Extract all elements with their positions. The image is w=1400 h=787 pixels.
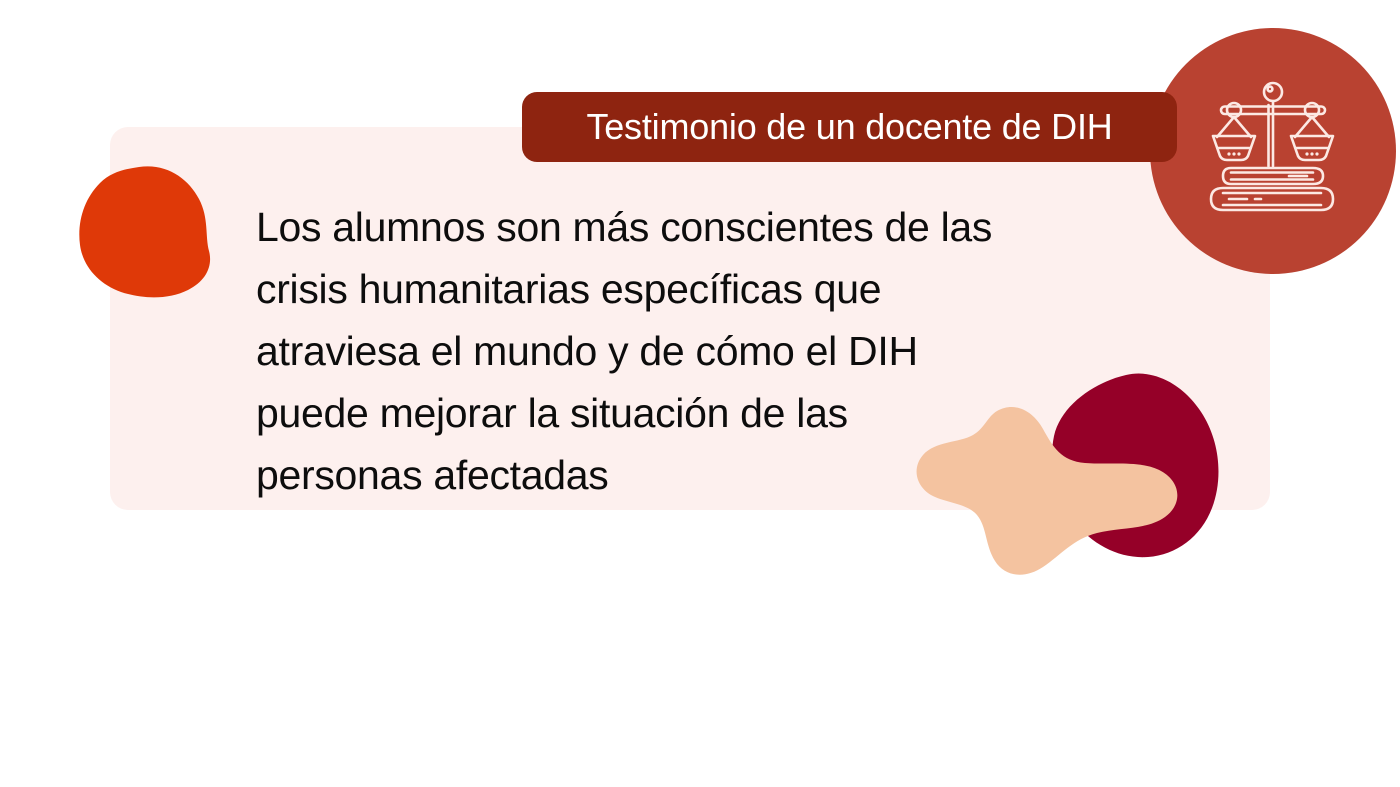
slide-canvas: Testimonio de un docente de DIH Los alum… [0,0,1400,787]
quote-text-block: Los alumnos son más conscientes de las c… [256,196,1086,506]
banner-title-text: Testimonio de un docente de DIH [586,109,1112,145]
orange-blob-decoration [78,166,218,298]
scales-of-justice-on-books-icon [1203,76,1343,226]
title-banner: Testimonio de un docente de DIH [522,92,1177,162]
quote-line: puede mejorar la situación de las [256,382,1086,444]
quote-line: personas afectadas [256,444,1086,506]
icon-badge-circle [1150,28,1396,274]
quote-line: Los alumnos son más conscientes de las [256,196,1086,258]
quote-line: atraviesa el mundo y de cómo el DIH [256,320,1086,382]
quote-line: crisis humanitarias específicas que [256,258,1086,320]
